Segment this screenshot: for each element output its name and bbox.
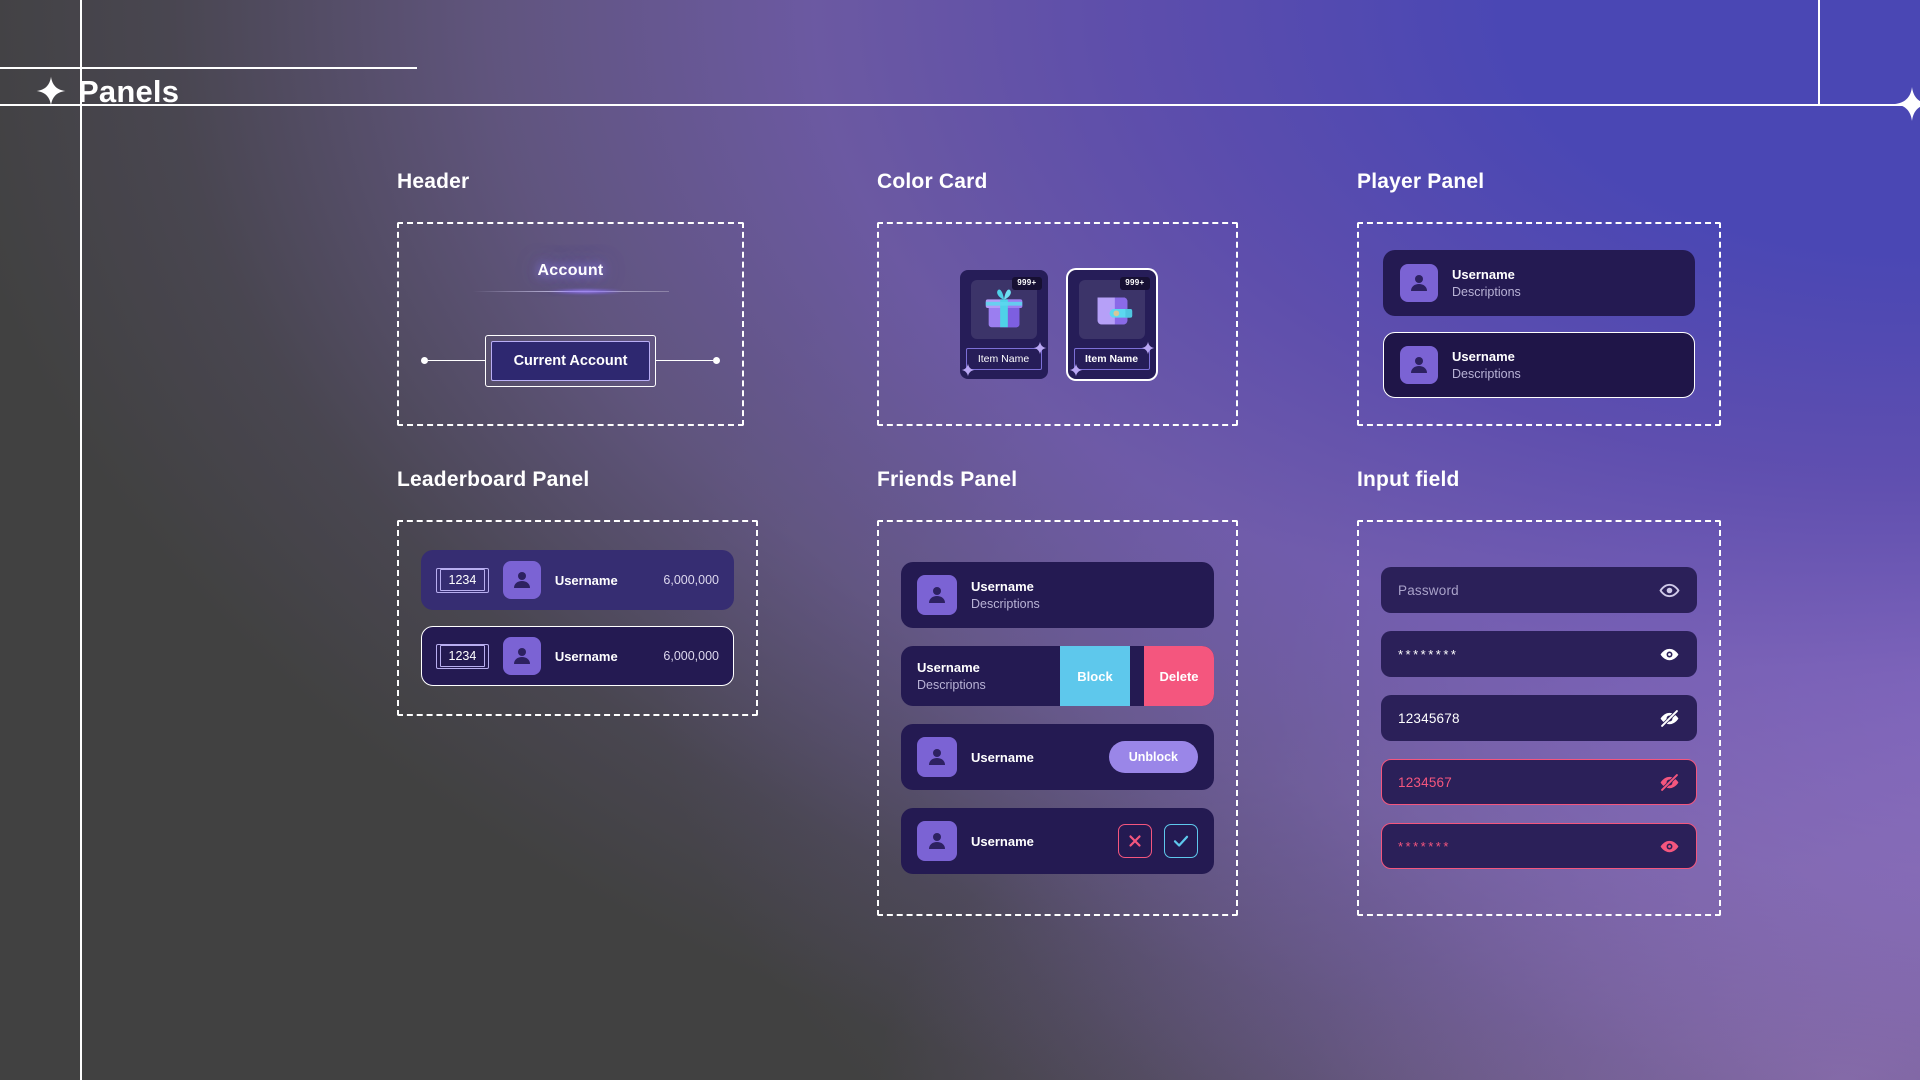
input-placeholder: Password [1398, 583, 1459, 598]
eye-off-icon[interactable] [1659, 708, 1680, 729]
corner-sparkle-icon [1895, 87, 1920, 121]
rank-value: 1234 [440, 569, 486, 591]
leaderboard-score: 6,000,000 [663, 573, 719, 587]
person-icon [503, 561, 541, 599]
input-field-panel-frame: Password ******** 12345678 1234567 [1357, 520, 1721, 916]
guide-line-horizontal-main [0, 104, 1920, 106]
item-card-wallet[interactable]: 999+ Item Name [1068, 270, 1156, 379]
section-title-leaderboard-panel: Leaderboard Panel [397, 468, 877, 492]
section-title-player-panel: Player Panel [1357, 170, 1827, 194]
item-badge-count: 999+ [1012, 277, 1041, 290]
person-icon [917, 821, 957, 861]
color-card-panel-frame: 999+ Item Name [877, 222, 1238, 426]
account-connector: Current Account [421, 335, 720, 387]
friend-row-blocked[interactable]: Username Unblock [901, 724, 1214, 790]
password-input-empty[interactable]: Password [1381, 567, 1697, 613]
sparkle-icon-top [1033, 341, 1047, 355]
section-player-panel: Player Panel Username Descriptions Usern… [1357, 170, 1827, 426]
friend-text: Username Descriptions [901, 647, 1046, 705]
account-label: Account [537, 262, 603, 280]
person-icon [1400, 264, 1438, 302]
password-input-error-visible[interactable]: 1234567 [1381, 759, 1697, 805]
player-description: Descriptions [1452, 367, 1521, 381]
sparkle-icon-top [1141, 341, 1155, 355]
check-icon[interactable] [1164, 824, 1198, 858]
person-icon [503, 637, 541, 675]
section-title-color-card: Color Card [877, 170, 1357, 194]
person-icon [1400, 346, 1438, 384]
delete-button[interactable]: Delete [1144, 646, 1214, 706]
input-value: 12345678 [1398, 711, 1460, 726]
friends-panel-frame: Username Descriptions Username Descripti… [877, 520, 1238, 916]
friend-row-swiped: Username Descriptions Block Delete [901, 646, 1214, 706]
item-badge-count: 999+ [1120, 277, 1149, 290]
player-username: Username [1452, 349, 1521, 364]
player-text: Username Descriptions [1452, 267, 1521, 299]
eye-icon[interactable] [1659, 836, 1680, 857]
friend-row[interactable]: Username Descriptions [901, 562, 1214, 628]
section-friends-panel: Friends Panel Username Descriptions User… [877, 468, 1357, 916]
sparkle-icon-bottom [961, 363, 975, 377]
guide-line-vertical-right [1818, 0, 1820, 104]
friend-username: Username [971, 579, 1040, 594]
section-input-field: Input field Password ******** 12345678 [1357, 468, 1827, 916]
person-icon [917, 575, 957, 615]
connector-dot-left [421, 357, 428, 364]
four-point-star-icon [36, 76, 66, 106]
item-name-box: Item Name [966, 348, 1042, 370]
section-title-header: Header [397, 170, 877, 194]
section-color-card: Color Card 999+ [877, 170, 1357, 426]
page-title: Panels [78, 76, 179, 107]
friend-username: Username [971, 750, 1034, 765]
section-title-input-field: Input field [1357, 468, 1827, 492]
item-card-gift[interactable]: 999+ Item Name [960, 270, 1048, 379]
input-value: ******* [1398, 839, 1451, 854]
section-header: Header Account Current Account [397, 170, 877, 426]
sparkle-icon-bottom [1069, 363, 1083, 377]
page-header: Panels [36, 68, 179, 114]
connector-line-left [428, 360, 485, 361]
friend-row-request[interactable]: Username [901, 808, 1214, 874]
input-value: ******** [1398, 647, 1458, 662]
player-panel-frame: Username Descriptions Username Descripti… [1357, 222, 1721, 426]
connector-dot-right [713, 357, 720, 364]
input-value: 1234567 [1398, 775, 1452, 790]
eye-icon[interactable] [1659, 580, 1680, 601]
leaderboard-score: 6,000,000 [663, 649, 719, 663]
leaderboard-row-selected[interactable]: 1234 Username 6,000,000 [421, 626, 734, 686]
section-title-friends-panel: Friends Panel [877, 468, 1357, 492]
player-row[interactable]: Username Descriptions [1383, 250, 1695, 316]
unblock-button[interactable]: Unblock [1109, 741, 1198, 773]
connector-line-right [656, 360, 713, 361]
friend-text: Username Descriptions [971, 579, 1040, 611]
header-panel-frame: Account Current Account [397, 222, 744, 426]
account-glow-divider [473, 289, 669, 295]
leaderboard-row[interactable]: 1234 Username 6,000,000 [421, 550, 734, 610]
password-input-visible[interactable]: 12345678 [1381, 695, 1697, 741]
item-name-label: Item Name [978, 353, 1029, 365]
person-icon [917, 737, 957, 777]
item-name-label: Item Name [1085, 353, 1138, 365]
request-actions [1118, 824, 1198, 858]
rank-badge: 1234 [436, 568, 489, 593]
eye-icon[interactable] [1659, 644, 1680, 665]
eye-off-icon[interactable] [1659, 772, 1680, 793]
player-description: Descriptions [1452, 285, 1521, 299]
password-input-masked[interactable]: ******** [1381, 631, 1697, 677]
block-button[interactable]: Block [1060, 646, 1130, 706]
rank-value: 1234 [440, 645, 486, 667]
friend-username: Username [917, 660, 1030, 675]
current-account-selection-ring: Current Account [485, 335, 657, 387]
player-text: Username Descriptions [1452, 349, 1521, 381]
leaderboard-panel-frame: 1234 Username 6,000,000 1234 Username 6,… [397, 520, 758, 716]
leaderboard-username: Username [555, 649, 618, 664]
rank-badge: 1234 [436, 644, 489, 669]
close-icon[interactable] [1118, 824, 1152, 858]
friend-description: Descriptions [971, 597, 1040, 611]
player-row-selected[interactable]: Username Descriptions [1383, 332, 1695, 398]
panels-grid: Header Account Current Account Color Car… [397, 170, 1827, 916]
item-name-box: Item Name [1074, 348, 1150, 370]
section-leaderboard-panel: Leaderboard Panel 1234 Username 6,000,00… [397, 468, 877, 916]
current-account-button[interactable]: Current Account [491, 341, 651, 381]
friend-description: Descriptions [917, 678, 1030, 692]
guide-line-vertical-left [80, 0, 82, 1080]
leaderboard-username: Username [555, 573, 618, 588]
player-username: Username [1452, 267, 1521, 282]
friend-username: Username [971, 834, 1034, 849]
password-input-error-masked[interactable]: ******* [1381, 823, 1697, 869]
